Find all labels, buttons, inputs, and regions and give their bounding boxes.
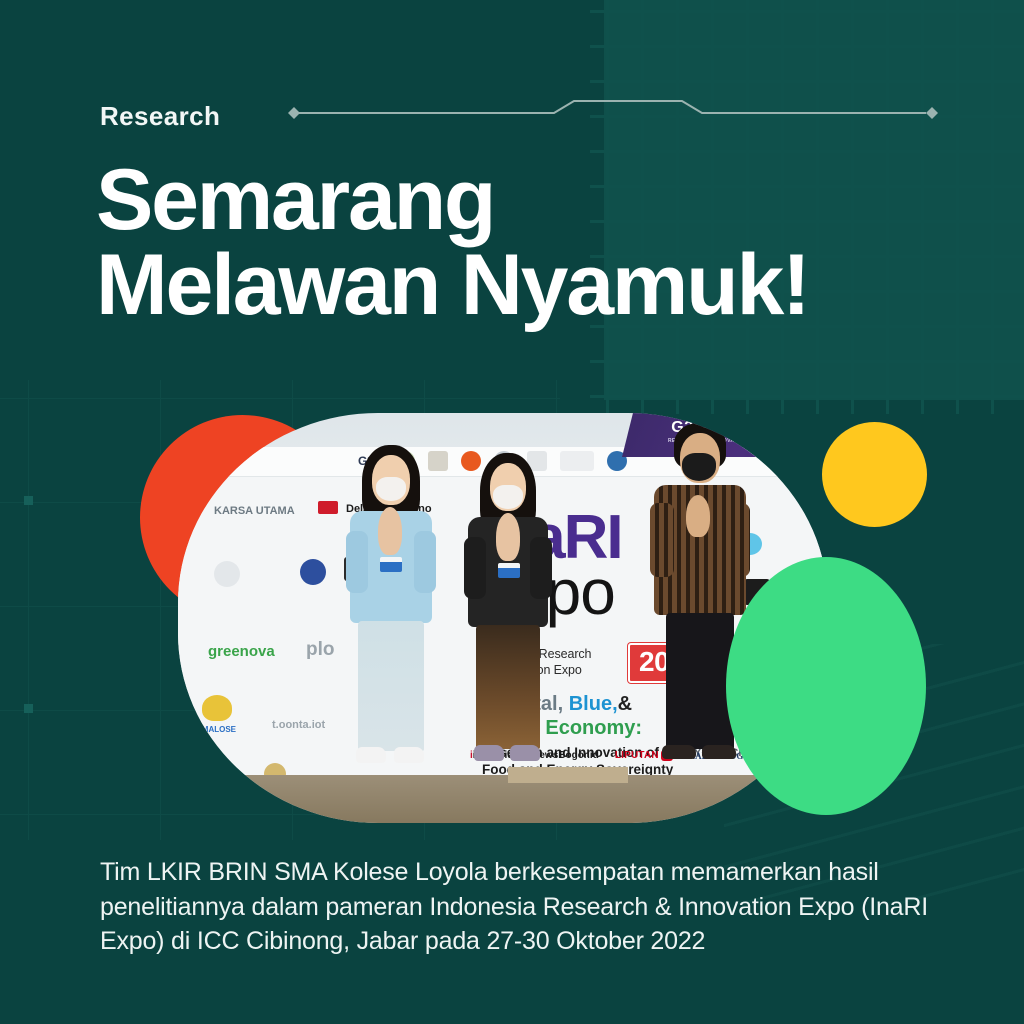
person-figure [454, 445, 562, 775]
yellow-circle-decoration [822, 422, 927, 527]
header-rule-decoration [282, 96, 938, 130]
hands-shape [378, 507, 402, 555]
hands-shape [686, 495, 710, 537]
shoe-shape [394, 747, 424, 763]
arm-shape [530, 537, 552, 599]
stage-floor [178, 775, 828, 823]
arm-shape [726, 503, 750, 577]
shoe-shape [702, 745, 736, 759]
caption-text: Tim LKIR BRIN SMA Kolese Loyola berkesem… [100, 855, 930, 959]
arm-shape [414, 531, 436, 593]
shoe-shape [474, 745, 504, 761]
green-circle-decoration [726, 557, 926, 815]
shoe-shape [510, 745, 540, 761]
face-mask-icon [376, 477, 406, 501]
hands-shape [496, 513, 520, 561]
event-photo: G2O KARSA UTAMA Delameta Bilano [178, 413, 828, 823]
photo-image: G2O KARSA UTAMA Delameta Bilano [178, 413, 828, 823]
tagline-word-amp: & [618, 693, 632, 715]
face-mask-icon [493, 485, 523, 509]
face-mask-icon [682, 453, 716, 481]
sponsor-label: t.oonta.iot [272, 719, 325, 731]
tagline-word-blue: Blue, [569, 693, 618, 715]
eyebrow-label: Research [100, 101, 220, 132]
sponsor-mark-icon [202, 695, 232, 721]
sponsor-mark-icon [214, 561, 240, 587]
grid-node-icon [24, 496, 33, 505]
shoe-shape [356, 747, 386, 763]
headline-line-2: Melawan Nyamuk! [96, 243, 976, 328]
lanyard-badge [380, 557, 402, 572]
legs-shape [358, 621, 424, 751]
arm-shape [346, 531, 368, 593]
sponsor-logo-icon [560, 451, 594, 471]
sponsor-label: greenova [208, 643, 275, 660]
legs-shape [666, 613, 734, 749]
sponsor-mark-icon [300, 559, 326, 585]
arm-shape [650, 503, 674, 577]
sponsor-label: KARSA UTAMA [214, 505, 295, 517]
lanyard-badge [498, 563, 520, 578]
headline-line-1: Semarang [96, 152, 494, 248]
grid-node-icon [24, 704, 33, 713]
arm-shape [464, 537, 486, 599]
sponsor-label small: AMALOSE [196, 725, 236, 734]
page-title: Semarang Melawan Nyamuk! [96, 158, 976, 328]
sponsor-mark-icon [318, 501, 338, 514]
shoe-shape [662, 745, 696, 759]
person-figure [336, 445, 446, 775]
legs-shape [476, 625, 540, 749]
sponsor-label: plo [306, 639, 335, 661]
poster-canvas: Research Semarang Melawan Nyamuk! G2O [0, 0, 1024, 1024]
